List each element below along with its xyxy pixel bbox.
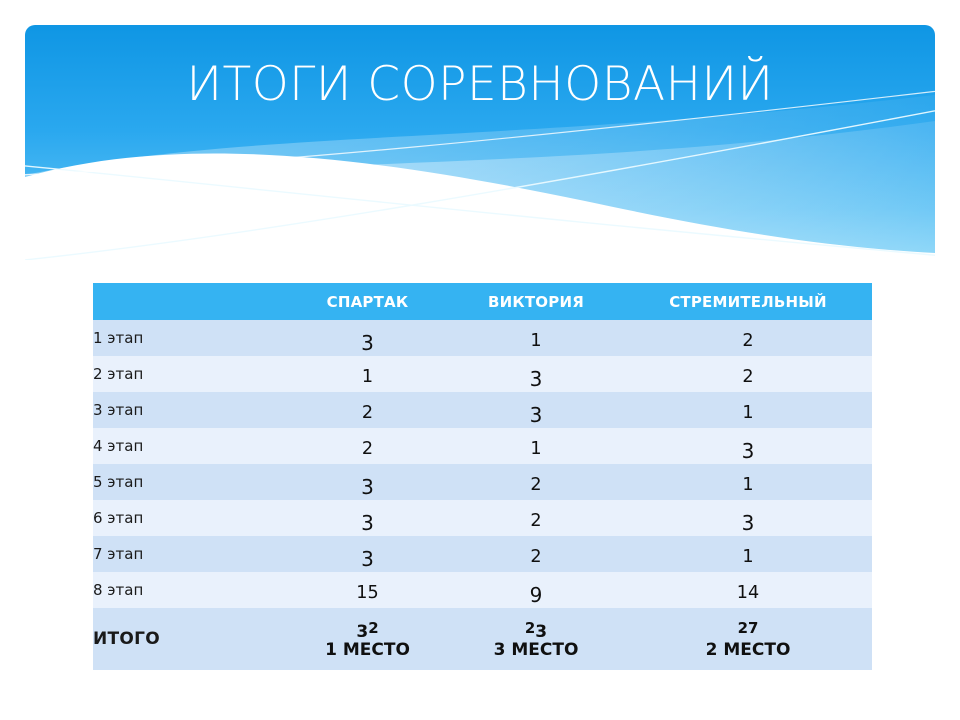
- table-row: 3 этап231: [93, 392, 872, 428]
- cell-spartak: 3: [287, 500, 448, 536]
- table-row: 6 этап323: [93, 500, 872, 536]
- slide: ИТОГИ СОРЕВНОВАНИЙ СПАРТАК ВИКТОРИЯ СТРЕ…: [0, 0, 960, 720]
- table-body: 1 этап3122 этап1323 этап2314 этап2135 эт…: [93, 320, 872, 670]
- row-label: 8 этап: [93, 572, 287, 608]
- table-row: 4 этап213: [93, 428, 872, 464]
- table-row: 2 этап132: [93, 356, 872, 392]
- cell-stremitelny: 3: [624, 500, 872, 536]
- cell-stremitelny: 1: [624, 392, 872, 428]
- cell-viktoriya: 3: [448, 356, 624, 392]
- table-row: 1 этап312: [93, 320, 872, 356]
- row-label: 5 этап: [93, 464, 287, 500]
- cell-spartak: 3: [287, 464, 448, 500]
- cell-viktoriya: 9: [448, 572, 624, 608]
- table-header-viktoriya: ВИКТОРИЯ: [448, 283, 624, 320]
- row-label: 2 этап: [93, 356, 287, 392]
- cell-spartak: 1: [287, 356, 448, 392]
- cell-viktoriya: 2: [448, 500, 624, 536]
- table-header-stremitelny: СТРЕМИТЕЛЬНЫЙ: [624, 283, 872, 320]
- cell-viktoriya: 3: [448, 392, 624, 428]
- cell-viktoriya: 2: [448, 464, 624, 500]
- total-cell-stremitelny: 272 МЕСТО: [624, 608, 872, 670]
- page-title: ИТОГИ СОРЕВНОВАНИЙ: [25, 60, 935, 109]
- cell-stremitelny: 1: [624, 464, 872, 500]
- cell-spartak: 3: [287, 536, 448, 572]
- row-label: 4 этап: [93, 428, 287, 464]
- table-header: СПАРТАК ВИКТОРИЯ СТРЕМИТЕЛЬНЫЙ: [93, 283, 872, 320]
- cell-viktoriya: 1: [448, 428, 624, 464]
- total-label: ИТОГО: [93, 608, 287, 670]
- table-row: 8 этап15914: [93, 572, 872, 608]
- table-header-corner: [93, 283, 287, 320]
- table-row: 5 этап321: [93, 464, 872, 500]
- total-score: 27: [624, 616, 872, 639]
- cell-viktoriya: 1: [448, 320, 624, 356]
- table-header-row: СПАРТАК ВИКТОРИЯ СТРЕМИТЕЛЬНЫЙ: [93, 283, 872, 320]
- cell-stremitelny: 2: [624, 320, 872, 356]
- total-place: 2 МЕСТО: [624, 639, 872, 662]
- row-label: 7 этап: [93, 536, 287, 572]
- row-label: 6 этап: [93, 500, 287, 536]
- cell-spartak: 15: [287, 572, 448, 608]
- cell-stremitelny: 14: [624, 572, 872, 608]
- cell-stremitelny: 1: [624, 536, 872, 572]
- cell-spartak: 3: [287, 320, 448, 356]
- cell-stremitelny: 2: [624, 356, 872, 392]
- cell-spartak: 2: [287, 428, 448, 464]
- total-score: 23: [448, 616, 624, 639]
- cell-stremitelny: 3: [624, 428, 872, 464]
- table-header-spartak: СПАРТАК: [287, 283, 448, 320]
- cell-spartak: 2: [287, 392, 448, 428]
- table-total-row: ИТОГО321 МЕСТО233 МЕСТО272 МЕСТО: [93, 608, 872, 670]
- results-table: СПАРТАК ВИКТОРИЯ СТРЕМИТЕЛЬНЫЙ 1 этап312…: [93, 283, 872, 670]
- total-score: 32: [287, 616, 448, 639]
- row-label: 1 этап: [93, 320, 287, 356]
- row-label: 3 этап: [93, 392, 287, 428]
- cell-viktoriya: 2: [448, 536, 624, 572]
- total-cell-spartak: 321 МЕСТО: [287, 608, 448, 670]
- table-row: 7 этап321: [93, 536, 872, 572]
- total-cell-viktoriya: 233 МЕСТО: [448, 608, 624, 670]
